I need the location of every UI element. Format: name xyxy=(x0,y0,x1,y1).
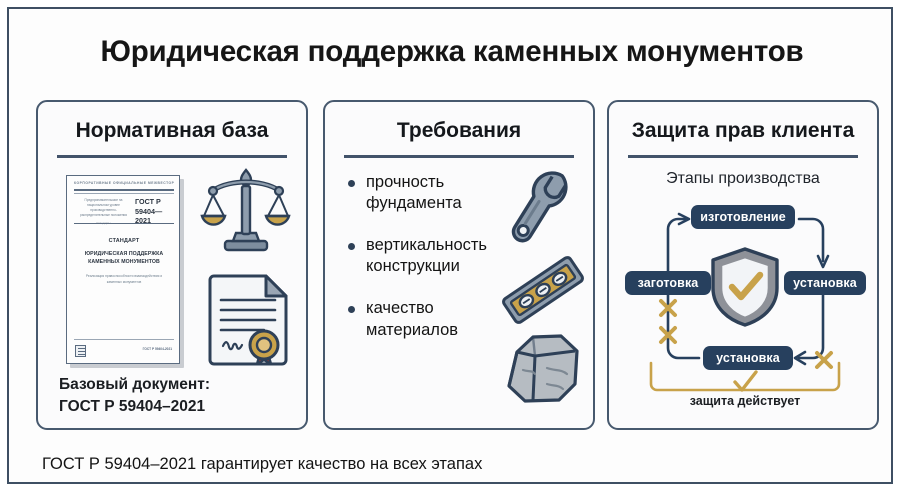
production-stages-flow: изготовление заготовка установка установ… xyxy=(609,198,881,423)
page-title: Юридическая поддержка каменных монументо… xyxy=(9,35,895,69)
list-item: качество материалов xyxy=(347,298,512,340)
requirement-text: качество материалов xyxy=(366,299,458,338)
document-org-block: Предпринимательские на национальном уров… xyxy=(76,198,131,225)
panel-1-heading: Нормативная база xyxy=(38,119,306,143)
list-item: прочность фундамента xyxy=(347,172,512,214)
flow-node-ustanovka-right[interactable]: установка xyxy=(784,271,866,295)
document-emblem-icon xyxy=(75,345,86,357)
shield-check-icon xyxy=(709,246,781,328)
spirit-level-icon xyxy=(501,250,585,330)
panel-normative-base: Нормативная база КОРПОРАТИВНЫЕ ОФИЦИАЛЬН… xyxy=(36,100,308,430)
outer-frame: Юридическая поддержка каменных монументо… xyxy=(7,7,893,484)
panel-2-divider xyxy=(344,155,574,158)
wrench-icon xyxy=(503,164,581,252)
panel-requirements: Требования прочность фундамента вертикал… xyxy=(323,100,595,430)
document-bottom-code: ГОСТ Р 59404-2021 xyxy=(143,347,172,351)
requirements-list: прочность фундамента вертикальность конс… xyxy=(347,172,512,362)
base-document-label: Базовый документ: xyxy=(59,374,297,396)
flow-node-zagotovka[interactable]: заготовка xyxy=(625,271,711,295)
flow-node-ustanovka-bottom[interactable]: установка xyxy=(703,346,793,370)
document-rule-bottom xyxy=(74,339,174,340)
document-rule-top-thin xyxy=(74,193,174,194)
list-item: вертикальность конструкции xyxy=(347,235,512,277)
document-rule-top xyxy=(74,189,174,191)
document-scope: Реализация правоспособности взаимодейств… xyxy=(79,274,169,285)
document-gost-code: ГОСТ Р 59404— 2021 xyxy=(135,197,171,226)
flow-node-izgotovlenie[interactable]: изготовление xyxy=(691,205,795,229)
panel-1-footer: Базовый документ: ГОСТ Р 59404–2021 xyxy=(59,374,297,418)
requirement-text: вертикальность конструкции xyxy=(366,236,487,275)
document-kind: СТАНДАРТ xyxy=(77,238,171,244)
document-header-band: КОРПОРАТИВНЫЕ ОФИЦИАЛЬНЫЕ МЕЖВЕСТОРГА xyxy=(74,181,174,185)
panel-3-subheading: Этапы производства xyxy=(609,170,877,188)
stone-block-icon xyxy=(503,332,583,406)
infographic-root: Юридическая поддержка каменных монументо… xyxy=(0,0,900,491)
panel-3-heading: Защита прав клиента xyxy=(609,119,877,143)
flow-node-label: изготовление xyxy=(700,210,786,224)
panel-3-divider xyxy=(628,155,858,158)
certificate-icon xyxy=(204,270,296,366)
protection-note: защита действует xyxy=(609,394,881,408)
panel-1-divider xyxy=(57,155,287,158)
base-document-value: ГОСТ Р 59404–2021 xyxy=(59,396,297,418)
requirement-text: прочность фундамента xyxy=(366,173,462,212)
document-subject: ЮРИДИЧЕСКАЯ ПОДДЕРЖКА КАМЕННЫХ МОНУМЕНТО… xyxy=(77,250,171,267)
scales-of-justice-icon xyxy=(198,164,294,260)
panel-client-rights: Защита прав клиента Этапы производства xyxy=(607,100,879,430)
gost-document-cover: КОРПОРАТИВНЫЕ ОФИЦИАЛЬНЫЕ МЕЖВЕСТОРГА Пр… xyxy=(66,175,184,368)
flow-node-label: установка xyxy=(716,351,780,365)
flow-node-label: установка xyxy=(793,276,857,290)
document-org-text: Предпринимательские на национальном уров… xyxy=(80,198,127,217)
footer-text: ГОСТ Р 59404–2021 гарантирует качество н… xyxy=(42,455,482,474)
document-rule-mid xyxy=(74,223,174,224)
panel-2-heading: Требования xyxy=(325,119,593,143)
flow-node-label: заготовка xyxy=(638,276,699,290)
document-page: КОРПОРАТИВНЫЕ ОФИЦИАЛЬНЫЕ МЕЖВЕСТОРГА Пр… xyxy=(66,175,180,364)
